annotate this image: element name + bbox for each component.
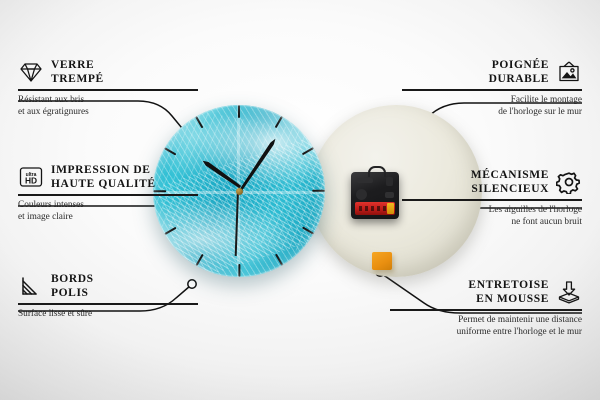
feature-desc-line2: et image claire: [18, 212, 73, 222]
feature-title-line1: VERRE: [51, 59, 94, 71]
feature-title-line1: ENTRETOISE: [468, 279, 549, 291]
feature-desc-line1: Les aiguilles de l'horloge: [489, 205, 582, 215]
infographic-canvas: VERRE TREMPÉ Résistant aux bris et aux é…: [0, 0, 600, 400]
feature-desc-line1: Permet de maintenir une distance: [458, 315, 582, 325]
feature-title-line2: HAUTE QUALITÉ: [51, 178, 156, 190]
feature-title-line2: EN MOUSSE: [476, 293, 549, 305]
gear-icon: [556, 170, 582, 194]
divider: [390, 309, 582, 311]
feature-title-line1: POIGNÉE: [492, 59, 549, 71]
ultra-hd-icon: ultra HD: [18, 165, 44, 189]
divider: [18, 89, 198, 91]
feature-desc-line2: ne font aucun bruit: [512, 217, 582, 227]
callout-entretoise-en-mousse: ENTRETOISE EN MOUSSE Permet de maintenir…: [390, 278, 582, 339]
svg-text:HD: HD: [25, 176, 37, 186]
feature-title-line2: SILENCIEUX: [471, 183, 549, 195]
foam-spacer-icon: [556, 280, 582, 304]
feature-desc-line1: Facilite le montage: [511, 95, 582, 105]
feature-desc-line1: Couleurs intenses: [18, 200, 84, 210]
polished-edges-icon: [18, 274, 44, 298]
hanging-frame-icon: [556, 60, 582, 84]
divider: [18, 194, 198, 196]
callout-impression-haute-qualite: ultra HD IMPRESSION DE HAUTE QUALITÉ Cou…: [18, 163, 198, 224]
foam-spacer: [372, 252, 392, 270]
feature-desc-line2: uniforme entre l'horloge et le mur: [457, 327, 582, 337]
callout-poignee-durable: POIGNÉE DURABLE Facilite le montage de l…: [402, 58, 582, 119]
callout-bords-polis: BORDS POLIS Surface lisse et sûre: [18, 272, 198, 320]
feature-desc-line2: et aux égratignures: [18, 107, 89, 117]
feature-title-line2: TREMPÉ: [51, 73, 104, 85]
feature-title-line1: MÉCANISME: [471, 169, 549, 181]
callout-verre-trempe: VERRE TREMPÉ Résistant aux bris et aux é…: [18, 58, 198, 119]
diamond-icon: [18, 60, 44, 84]
feature-desc-line2: de l'horloge sur le mur: [498, 107, 582, 117]
divider: [402, 199, 582, 201]
feature-title-line1: IMPRESSION DE: [51, 164, 151, 176]
feature-desc-line1: Résistant aux bris: [18, 95, 84, 105]
battery: [355, 202, 395, 215]
feature-desc-line1: Surface lisse et sûre: [18, 309, 92, 319]
feature-title-line2: DURABLE: [489, 73, 549, 85]
clock-mechanism: [351, 172, 399, 219]
callout-mecanisme-silencieux: MÉCANISME SILENCIEUX Les aiguilles de l'…: [402, 168, 582, 229]
divider: [18, 303, 198, 305]
feature-title-line1: BORDS: [51, 273, 94, 285]
hanging-lug-icon: [368, 166, 386, 177]
divider: [402, 89, 582, 91]
feature-title-line2: POLIS: [51, 287, 89, 299]
